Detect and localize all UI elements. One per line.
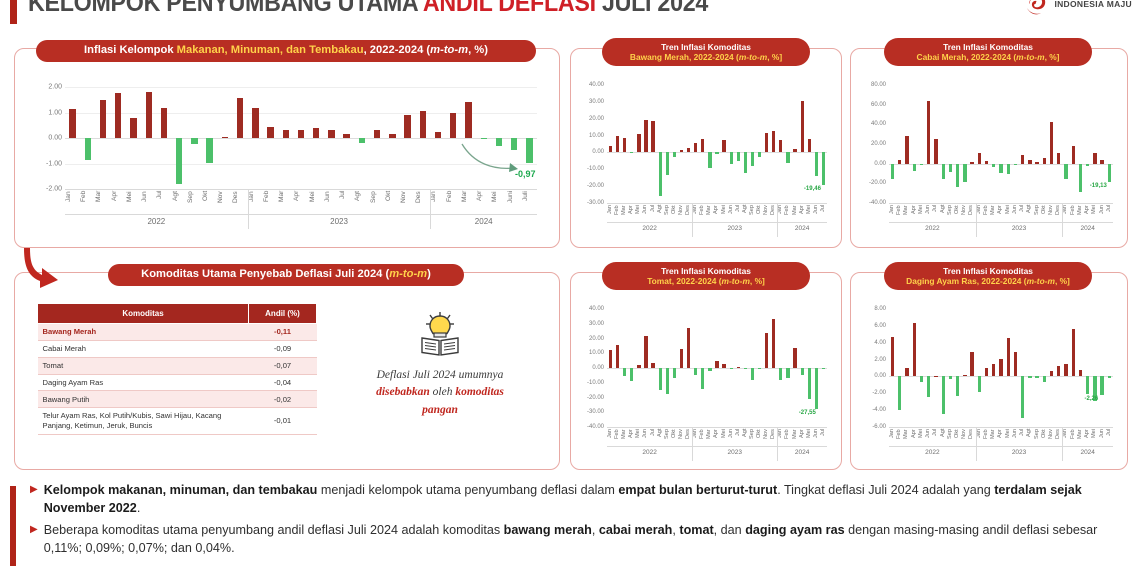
indonesia-maju-logo-icon: [1024, 0, 1050, 16]
bar: [920, 164, 923, 165]
bar: [992, 164, 995, 167]
bar: [751, 152, 754, 165]
bullet-marker-icon: ▶: [30, 522, 38, 558]
x-axis-tick-label: Sep: [947, 205, 954, 222]
bar: [673, 368, 676, 378]
bar: [1057, 366, 1060, 376]
bar: [978, 153, 981, 163]
bar: [1108, 376, 1111, 378]
x-axis-tick-label: Sep: [749, 429, 756, 446]
annotation-arrow-icon: [460, 140, 526, 181]
x-axis-tick-label: Agt: [354, 191, 369, 214]
bar: [942, 164, 945, 180]
bar: [715, 152, 718, 154]
y-axis-tick-label: 0.00: [874, 373, 886, 379]
bar: [481, 138, 487, 139]
panel-tomat-chart: 40.0030.0020.0010.000.00-10.00-20.00-30.…: [570, 272, 842, 470]
bar: [815, 152, 818, 176]
bar: [651, 363, 654, 368]
x-axis-tick-label: Mei: [721, 429, 728, 446]
x-axis-tick-label: Apr: [911, 429, 918, 446]
main-chart-title: Inflasi Kelompok Makanan, Minuman, dan T…: [36, 40, 536, 62]
x-axis-tick-label: Mei: [491, 191, 506, 214]
x-axis-tick-label: Sep: [947, 429, 954, 446]
x-axis-tick-label: Agt: [742, 429, 749, 446]
main-chart-canvas: 2.001.000.00-1.00-2.00-0,97JanFebMarAprM…: [15, 49, 559, 247]
bar: [404, 115, 410, 138]
bar: [1079, 370, 1082, 376]
y-axis-tick-label: -20.00: [587, 183, 604, 189]
x-axis-tick-label: Jan: [1062, 205, 1069, 222]
bar: [1007, 164, 1010, 175]
bar: [1050, 371, 1053, 377]
x-axis-tick-label: Juli: [522, 191, 537, 214]
bar: [146, 92, 152, 138]
x-axis-tick-label: Nov: [217, 191, 232, 214]
y-axis-tick-label: 8.00: [874, 306, 886, 312]
x-axis-tick-label: Jun: [642, 429, 649, 446]
table-cell-andil: -0,09: [249, 340, 317, 357]
bar: [389, 134, 395, 138]
x-axis-tick-label: Okt: [385, 191, 400, 214]
x-axis-tick-label: Okt: [202, 191, 217, 214]
x-axis-tick-label: Mei: [309, 191, 324, 214]
bar: [343, 134, 349, 138]
bar: [644, 120, 647, 153]
table-cell-komoditas: Tomat: [38, 357, 249, 374]
x-axis-year-label: 2024: [777, 225, 827, 232]
bar: [694, 368, 697, 375]
tomat-chart-canvas: 40.0030.0020.0010.000.00-10.00-20.00-30.…: [571, 273, 841, 469]
bar: [206, 138, 212, 163]
bar: [751, 368, 754, 380]
x-axis-tick-label: Jan: [430, 191, 445, 214]
bar: [905, 136, 908, 164]
y-axis-tick-label: 80.00: [871, 82, 886, 88]
x-axis-tick-label: Apr: [799, 429, 806, 446]
y-axis-tick-label: 0.00: [592, 365, 604, 371]
logo-text: INDONESIA MAJU: [1054, 0, 1132, 9]
bar: [772, 319, 775, 368]
table-cell-andil: -0,01: [249, 408, 317, 434]
bar: [298, 130, 304, 138]
x-axis-tick-label: Nov: [400, 191, 415, 214]
bar: [1086, 376, 1089, 394]
bar: [1007, 338, 1010, 377]
x-axis-tick-label: Jul: [932, 205, 939, 222]
bar: [616, 136, 619, 152]
y-axis-tick-label: 20.00: [589, 116, 604, 122]
x-axis-year-label: 2024: [1062, 449, 1113, 456]
y-axis-tick-label: -30.00: [587, 409, 604, 415]
x-axis-tick-label: Mei: [1005, 205, 1012, 222]
y-axis-tick-label: 30.00: [589, 99, 604, 105]
x-axis-year-label: 2023: [692, 225, 777, 232]
x-axis-tick-label: Des: [968, 205, 975, 222]
bar: [927, 376, 930, 397]
bar: [927, 101, 930, 164]
bar: [623, 138, 626, 153]
data-value-annotation: -19,46: [804, 186, 821, 192]
bar: [793, 348, 796, 368]
x-axis-tick-label: Jan: [976, 429, 983, 446]
bar: [130, 118, 136, 138]
x-axis-tick-label: Jan: [248, 191, 263, 214]
bullet-marker-icon: ▶: [30, 482, 38, 518]
x-axis-tick-label: Mar: [1077, 205, 1084, 222]
x-axis-tick-label: Mar: [792, 205, 799, 222]
bar: [283, 130, 289, 138]
bar: [1021, 155, 1024, 164]
panel-daging-ayam-ras-chart: 8.006.004.002.000.00-2.00-4.00-6.00-2,26…: [850, 272, 1128, 470]
x-axis-year-label: 2024: [430, 217, 537, 226]
insight-caption-block: Deflasi Juli 2024 umumnya disebabkan ole…: [335, 311, 545, 419]
table-col-andil: Andil (%): [249, 304, 317, 324]
bullet-text: Beberapa komoditas utama penyumbang andi…: [44, 522, 1128, 558]
page-title: KELOMPOK PENYUMBANG UTAMA ANDIL DEFLASI …: [28, 0, 708, 18]
table-cell-andil: -0,04: [249, 374, 317, 391]
y-axis-tick-label: -10.00: [587, 166, 604, 172]
page-title-main: KELOMPOK PENYUMBANG UTAMA: [28, 0, 423, 17]
x-axis-tick-label: Feb: [446, 191, 461, 214]
bar: [609, 146, 612, 153]
bar: [808, 368, 811, 399]
x-axis-tick-label: Des: [232, 191, 247, 214]
table-cell-andil: -0,02: [249, 391, 317, 408]
bar: [659, 368, 662, 390]
y-axis-tick-label: 10.00: [589, 133, 604, 139]
bar: [772, 131, 775, 152]
daging-ayam-ras-chart-title: Tren Inflasi Komoditas Daging Ayam Ras, …: [884, 262, 1092, 290]
bar: [1093, 153, 1096, 163]
x-axis-tick-label: Jul: [156, 191, 171, 214]
panel-cabai-merah-chart: 80.0060.0040.0020.000.00-20.00-40.00-19,…: [850, 48, 1128, 248]
x-axis-tick-label: Feb: [1070, 429, 1077, 446]
bar: [267, 127, 273, 138]
bar: [1035, 162, 1038, 163]
x-axis-tick-label: Mar: [461, 191, 476, 214]
footer-bullet-list: ▶Kelompok makanan, minuman, dan tembakau…: [30, 482, 1128, 562]
bar: [420, 111, 426, 138]
y-axis-tick-label: 1.00: [48, 109, 62, 116]
bar: [949, 164, 952, 172]
table-col-komoditas: Komoditas: [38, 304, 249, 324]
daging-ayam-ras-chart-canvas: 8.006.004.002.000.00-2.00-4.00-6.00-2,26…: [851, 273, 1127, 469]
bar: [1028, 160, 1031, 163]
x-axis-tick-label: Mar: [903, 429, 910, 446]
bar: [715, 361, 718, 368]
bar: [1014, 352, 1017, 376]
bar: [985, 161, 988, 163]
bar: [942, 376, 945, 413]
down-arrow-icon: [22, 246, 66, 292]
bar: [786, 368, 789, 378]
y-axis-tick-label: 40.00: [589, 82, 604, 88]
x-axis-tick-label: Mar: [95, 191, 110, 214]
x-axis-tick-label: Jun: [324, 191, 339, 214]
bar: [978, 376, 981, 392]
bar: [701, 368, 704, 389]
table-row: Daging Ayam Ras-0,04: [38, 374, 317, 391]
table-panel-title: Komoditas Utama Penyebab Deflasi Juli 20…: [108, 264, 464, 286]
x-axis-tick-label: Jun: [141, 191, 156, 214]
y-axis-tick-label: -20.00: [587, 395, 604, 401]
x-axis-tick-label: Jul: [820, 429, 827, 446]
bar: [737, 367, 740, 368]
x-axis-tick-label: Jul: [650, 205, 657, 222]
y-axis-tick-label: -2.00: [46, 186, 62, 193]
table-row: Tomat-0,07: [38, 357, 317, 374]
y-axis-tick-label: 60.00: [871, 102, 886, 108]
bar: [722, 364, 725, 368]
bar: [687, 328, 690, 368]
bar: [708, 152, 711, 168]
x-axis-tick-label: Okt: [1041, 429, 1048, 446]
table-body: Bawang Merah-0,11Cabai Merah-0,09Tomat-0…: [38, 324, 317, 435]
bar: [808, 139, 811, 152]
bar: [680, 349, 683, 368]
bar: [934, 139, 937, 164]
bar: [985, 368, 988, 376]
bar: [1108, 164, 1111, 183]
x-axis-tick-label: Agt: [657, 205, 664, 222]
footer-notes: ▶Kelompok makanan, minuman, dan tembakau…: [0, 482, 1140, 570]
x-axis-tick-label: Sep: [1034, 429, 1041, 446]
table-cell-komoditas: Cabai Merah: [38, 340, 249, 357]
panel-bawang-merah-chart: 40.0030.0020.0010.000.00-10.00-20.00-30.…: [570, 48, 842, 248]
bar: [722, 140, 725, 152]
x-axis-tick-label: Sep: [749, 205, 756, 222]
bar: [1100, 376, 1103, 395]
bar: [115, 93, 121, 138]
y-axis-tick-label: 20.00: [871, 141, 886, 147]
commodity-table: Komoditas Andil (%) Bawang Merah-0,11Cab…: [37, 303, 317, 435]
bar: [100, 100, 106, 138]
y-axis-tick-label: -10.00: [587, 380, 604, 386]
x-axis-tick-label: Agt: [940, 429, 947, 446]
y-axis-tick-label: 40.00: [871, 121, 886, 127]
bar: [801, 368, 804, 375]
bar: [85, 138, 91, 160]
bar: [898, 376, 901, 410]
table-cell-komoditas: Telur Ayam Ras, Kol Putih/Kubis, Sawi Hi…: [38, 408, 249, 434]
table-row: Cabai Merah-0,09: [38, 340, 317, 357]
table-cell-andil: -0,11: [249, 324, 317, 341]
bar: [616, 345, 619, 368]
plot-area: 8.006.004.002.000.00-2.00-4.00-6.00-2,26: [889, 309, 1113, 427]
x-axis-tick-label: Mei: [1091, 205, 1098, 222]
x-axis-tick-label: Jul: [650, 429, 657, 446]
x-axis-tick-label: Okt: [671, 429, 678, 446]
x-axis-tick-label: Feb: [263, 191, 278, 214]
x-axis-year-label: 2022: [607, 449, 692, 456]
x-axis-tick-label: Okt: [671, 205, 678, 222]
bar: [1057, 153, 1060, 163]
bar: [1028, 376, 1031, 378]
x-axis-tick-label: Feb: [784, 205, 791, 222]
bar: [758, 368, 761, 369]
bar: [644, 336, 647, 368]
x-axis-tick-label: Nov: [678, 429, 685, 446]
bar: [963, 164, 966, 183]
x-axis-tick-label: Apr: [911, 205, 918, 222]
x-axis-tick-label: Mei: [721, 205, 728, 222]
bar: [956, 164, 959, 188]
logo: INDONESIA MAJU: [1024, 0, 1132, 16]
bar: [1014, 164, 1017, 165]
bar: [637, 365, 640, 368]
y-axis-tick-label: -6.00: [872, 424, 886, 430]
x-axis-tick-label: Jun: [728, 205, 735, 222]
page-title-tail: JULI 2024: [596, 0, 708, 17]
bar: [786, 152, 789, 163]
x-axis-year-label: 2022: [607, 225, 692, 232]
bar: [765, 333, 768, 368]
x-axis-tick-label: Apr: [111, 191, 126, 214]
x-axis-tick-label: Mar: [278, 191, 293, 214]
plot-area: 40.0030.0020.0010.000.00-10.00-20.00-30.…: [607, 85, 827, 203]
bar: [1043, 158, 1046, 163]
bar: [758, 152, 761, 157]
bawang-merah-chart-canvas: 40.0030.0020.0010.000.00-10.00-20.00-30.…: [571, 49, 841, 247]
y-axis-tick-label: -2.00: [872, 390, 886, 396]
table-cell-andil: -0,07: [249, 357, 317, 374]
x-axis-tick-label: Jan: [976, 205, 983, 222]
bar: [913, 164, 916, 171]
y-axis-tick-label: 0.00: [874, 161, 886, 167]
table-row: Telur Ayam Ras, Kol Putih/Kubis, Sawi Hi…: [38, 408, 317, 434]
bar: [1043, 376, 1046, 382]
x-axis-tick-label: Jun: [1012, 429, 1019, 446]
x-axis-year-label: 2023: [248, 217, 431, 226]
bar: [222, 137, 228, 138]
x-axis-tick-label: Mei: [1005, 429, 1012, 446]
bar: [1079, 164, 1082, 193]
x-axis-year-label: 2024: [777, 449, 827, 456]
x-axis-tick-label: Agt: [657, 429, 664, 446]
footer-accent-bar: [10, 486, 16, 566]
y-axis-tick-label: -40.00: [869, 200, 886, 206]
bar: [666, 152, 669, 175]
x-axis-tick-label: Sep: [1034, 205, 1041, 222]
x-axis-tick-label: Sep: [370, 191, 385, 214]
y-axis-tick-label: 30.00: [589, 321, 604, 327]
bar: [737, 152, 740, 160]
bar: [822, 152, 825, 185]
zero-line: [65, 138, 537, 139]
x-axis-tick-label: Jul: [339, 191, 354, 214]
x-axis-tick-label: Agt: [742, 205, 749, 222]
bar: [637, 134, 640, 153]
y-axis-tick-label: -4.00: [872, 407, 886, 413]
bar: [934, 376, 937, 377]
bar: [687, 148, 690, 153]
bar: [1021, 376, 1024, 417]
y-axis-tick-label: 6.00: [874, 323, 886, 329]
bar: [898, 160, 901, 163]
y-axis-tick-label: 0.00: [592, 149, 604, 155]
x-axis-tick-label: Mei: [806, 205, 813, 222]
bar: [659, 152, 662, 195]
x-axis-year-label: 2024: [1062, 225, 1113, 232]
x-axis-tick-label: Jun: [642, 205, 649, 222]
x-axis-tick-label: Jun: [813, 205, 820, 222]
bar: [891, 164, 894, 179]
x-axis-tick-label: Mar: [903, 205, 910, 222]
table-cell-komoditas: Daging Ayam Ras: [38, 374, 249, 391]
x-axis-tick-label: Feb: [1070, 205, 1077, 222]
plot-area: 2.001.000.00-1.00-2.00-0,97: [65, 87, 537, 189]
x-axis-tick-label: Jul: [735, 429, 742, 446]
y-axis-tick-label: -40.00: [587, 424, 604, 430]
table-header-row: Komoditas Andil (%): [38, 304, 317, 324]
bar: [651, 121, 654, 152]
bullet-item: ▶Kelompok makanan, minuman, dan tembakau…: [30, 482, 1128, 518]
x-axis-tick-label: Apr: [997, 205, 1004, 222]
bar: [1072, 329, 1075, 376]
bar: [630, 152, 633, 153]
y-axis-tick-label: -1.00: [46, 160, 62, 167]
bar: [793, 149, 796, 152]
x-axis-tick-label: Feb: [80, 191, 95, 214]
x-axis-year-label: 2023: [692, 449, 777, 456]
zero-line: [607, 368, 827, 369]
bar: [694, 143, 697, 152]
bar: [673, 152, 676, 156]
bar: [191, 138, 197, 144]
x-axis-tick-label: Apr: [997, 429, 1004, 446]
bar: [999, 164, 1002, 173]
y-axis-tick-label: 10.00: [589, 350, 604, 356]
data-value-annotation: -2,26: [1085, 396, 1099, 402]
bar: [69, 109, 75, 138]
x-axis-year-label: 2023: [976, 225, 1063, 232]
header-accent-bar: [10, 0, 17, 24]
x-axis-tick-label: Apr: [713, 429, 720, 446]
bar: [970, 352, 973, 376]
bullet-text: Kelompok makanan, minuman, dan tembakau …: [44, 482, 1128, 518]
x-axis-tick-label: Jun: [1099, 205, 1106, 222]
bar: [359, 138, 365, 143]
x-axis-tick-label: Apr: [799, 205, 806, 222]
x-axis-tick-label: Mar: [1077, 429, 1084, 446]
y-axis-tick-label: 0.00: [48, 135, 62, 142]
bar: [730, 368, 733, 369]
cabai-merah-chart-title: Tren Inflasi Komoditas Cabai Merah, 2022…: [884, 38, 1092, 66]
x-axis-tick-label: Juni: [507, 191, 522, 214]
x-axis-tick-label: Apr: [713, 205, 720, 222]
bar: [609, 350, 612, 368]
x-axis-tick-label: Mei: [1091, 429, 1098, 446]
insight-caption-text: Deflasi Juli 2024 umumnya disebabkan ole…: [335, 367, 545, 419]
bar: [949, 376, 952, 379]
bawang-merah-chart-title: Tren Inflasi Komoditas Bawang Merah, 202…: [602, 38, 810, 66]
lightbulb-book-icon: [418, 311, 462, 357]
x-axis-tick-label: Jul: [820, 205, 827, 222]
x-axis-tick-label: Jan: [1062, 429, 1069, 446]
bar: [435, 132, 441, 138]
x-axis-tick-label: Des: [415, 191, 430, 214]
x-axis-tick-label: Des: [968, 429, 975, 446]
cabai-merah-chart-canvas: 80.0060.0040.0020.000.00-20.00-40.00-19,…: [851, 49, 1127, 247]
bar: [765, 133, 768, 152]
bar: [1100, 160, 1103, 163]
y-axis-tick-label: 2.00: [48, 84, 62, 91]
x-axis-tick-label: Sep: [664, 205, 671, 222]
x-axis-tick-label: Agt: [172, 191, 187, 214]
bar: [1064, 164, 1067, 180]
plot-area: 40.0030.0020.0010.000.00-10.00-20.00-30.…: [607, 309, 827, 427]
